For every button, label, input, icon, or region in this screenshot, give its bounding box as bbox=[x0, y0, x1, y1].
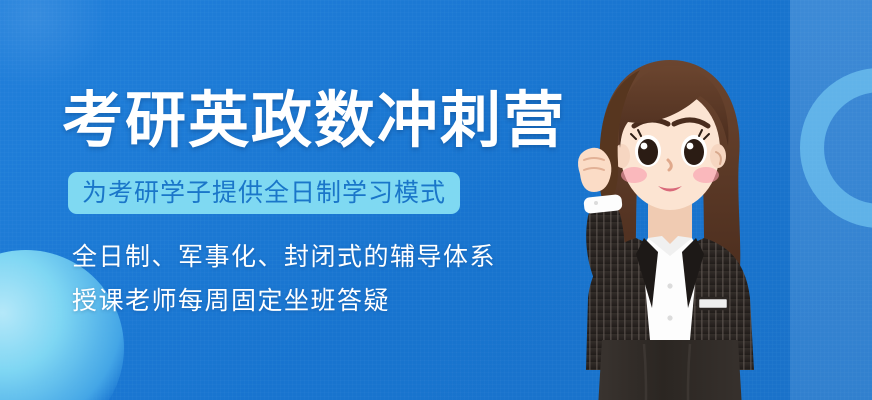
promo-banner: 考研英政数冲刺营 为考研学子提供全日制学习模式 全日制、军事化、封闭式的辅导体系… bbox=[0, 0, 872, 400]
subtitle-pill: 为考研学子提供全日制学习模式 bbox=[68, 172, 460, 214]
banner-content: 考研英政数冲刺营 为考研学子提供全日制学习模式 全日制、军事化、封闭式的辅导体系… bbox=[0, 0, 560, 400]
subtitle-pill-label: 为考研学子提供全日制学习模式 bbox=[82, 181, 446, 206]
female-teacher-illustration bbox=[540, 40, 800, 400]
skirt bbox=[596, 340, 744, 400]
feature-line-1: 全日制、军事化、封闭式的辅导体系 bbox=[72, 245, 496, 270]
page-title: 考研英政数冲刺营 bbox=[62, 84, 566, 156]
feature-line-2: 授课老师每周固定坐班答疑 bbox=[72, 289, 390, 314]
